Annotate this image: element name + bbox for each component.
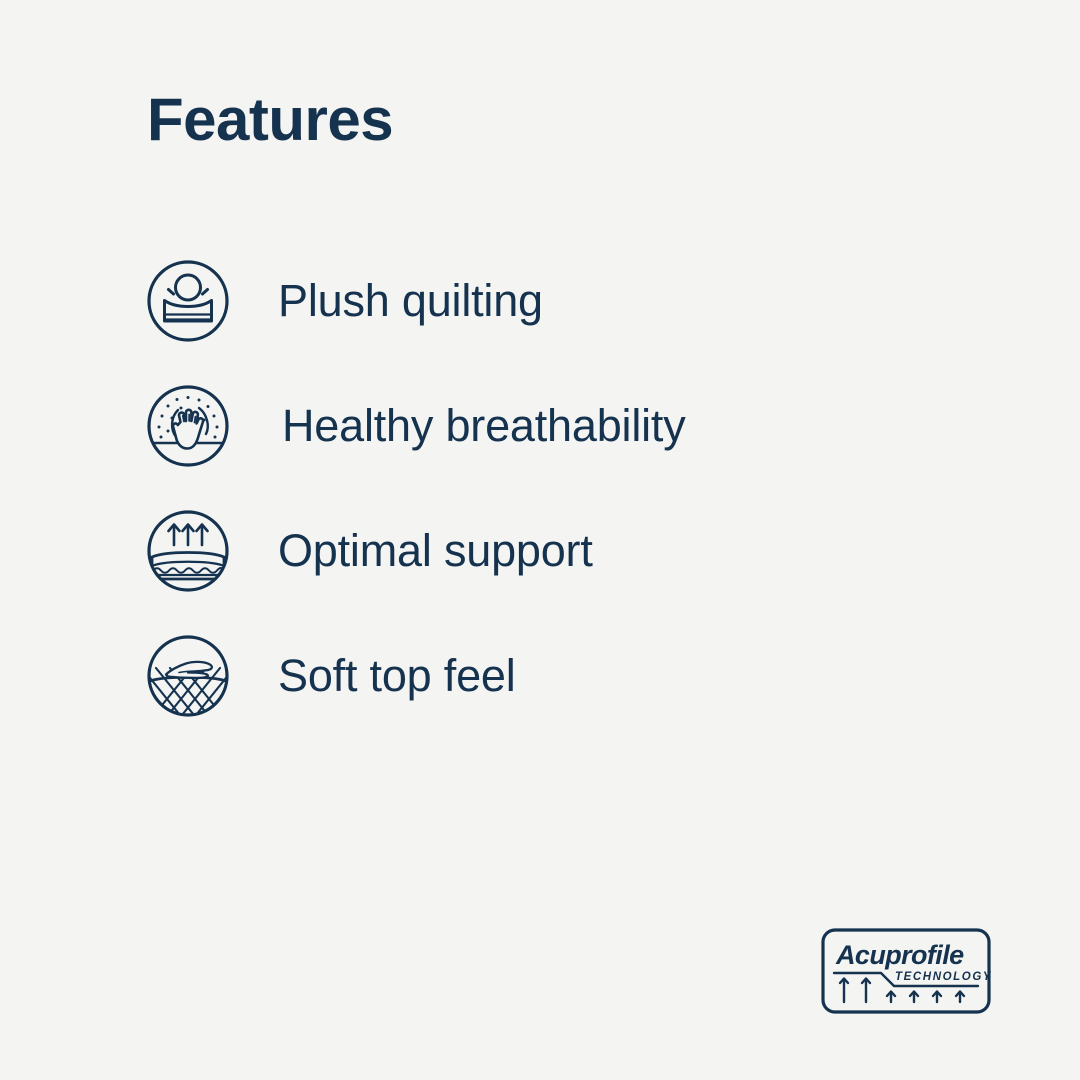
acuprofile-logo: Acuprofile TECHNOLOGY: [821, 928, 991, 1014]
page-title: Features: [147, 84, 393, 156]
up-arrow: [169, 525, 180, 546]
feature-label: Plush quilting: [278, 275, 543, 327]
feature-label: Soft top feel: [278, 650, 516, 702]
logo-arrow: [840, 979, 848, 1003]
list-item: Optimal support: [146, 509, 946, 593]
plush-quilting-icon: [146, 259, 230, 343]
healthy-breathability-icon: [146, 384, 230, 468]
logo-subtitle: TECHNOLOGY: [895, 971, 991, 983]
feature-list-page: Features: [0, 0, 1080, 1080]
soft-top-feel-icon: [146, 634, 230, 718]
feature-list: Plush quilting: [146, 259, 946, 718]
list-item: Soft top feel: [146, 634, 946, 718]
logo-arrow: [933, 992, 941, 1003]
logo-arrow: [862, 979, 870, 1003]
feature-label: Healthy breathability: [282, 400, 686, 452]
optimal-support-icon: [146, 509, 230, 593]
logo-wordmark: Acuprofile: [835, 940, 964, 970]
up-arrow: [183, 525, 194, 546]
logo-arrow: [887, 992, 895, 1003]
logo-arrow: [956, 992, 964, 1003]
list-item: Healthy breathability: [146, 384, 946, 468]
list-item: Plush quilting: [146, 259, 946, 343]
feature-label: Optimal support: [278, 525, 593, 577]
logo-arrow: [910, 992, 918, 1003]
up-arrow: [197, 525, 208, 546]
